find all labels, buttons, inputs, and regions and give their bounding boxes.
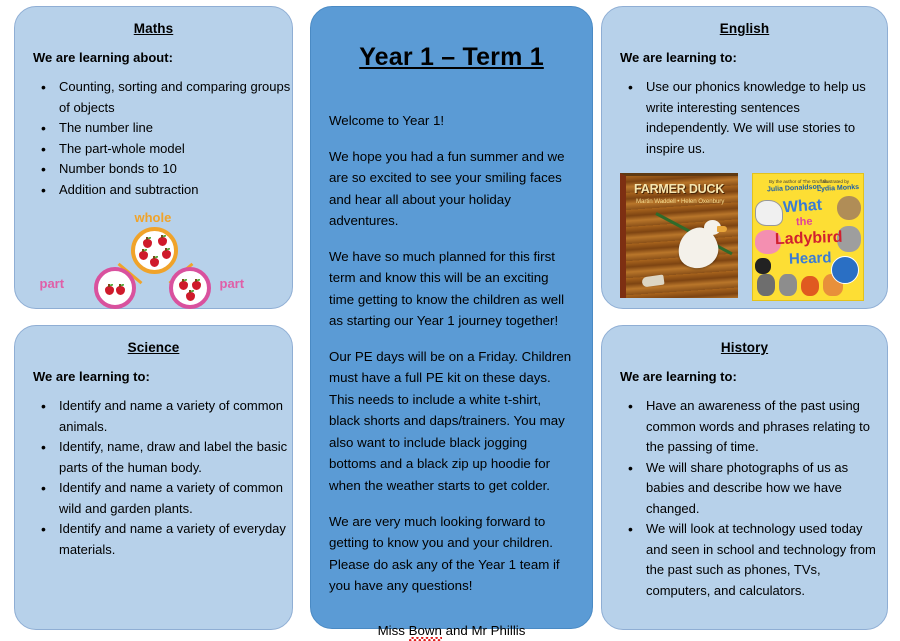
cat-illustration bbox=[757, 274, 775, 296]
cat-illustration bbox=[779, 274, 797, 296]
letter-paragraph: We hope you had a fun summer and we are … bbox=[329, 146, 574, 232]
letter-paragraph: Our PE days will be on a Friday. Childre… bbox=[329, 346, 574, 497]
panel-science: Science We are learning to: Identify and… bbox=[14, 325, 293, 630]
book-title-word-1: What bbox=[782, 197, 822, 218]
whole-label: whole bbox=[135, 210, 172, 225]
duck-beak-illustration bbox=[717, 226, 727, 232]
panel-main-letter: Year 1 – Term 1 Welcome to Year 1! We ho… bbox=[310, 6, 593, 629]
signature-suffix: and Mr Phillis bbox=[442, 623, 526, 638]
panel-history: History We are learning to: Have an awar… bbox=[601, 325, 888, 630]
history-bullet-list: Have an awareness of the past using comm… bbox=[602, 396, 887, 601]
science-lead: We are learning to: bbox=[33, 369, 292, 384]
english-title: English bbox=[602, 21, 887, 36]
list-item: Addition and subtraction bbox=[59, 180, 292, 201]
book-authors-farmer-duck: Martin Waddell • Helen Oxenbury bbox=[636, 198, 724, 205]
book-author-right: Lydia Monks bbox=[817, 184, 859, 193]
signature-surname-misspelled: Bown bbox=[409, 623, 442, 638]
maths-lead: We are learning about: bbox=[33, 50, 292, 65]
letter-body: Welcome to Year 1! We hope you had a fun… bbox=[329, 72, 574, 638]
list-item: The part-whole model bbox=[59, 139, 292, 160]
list-item: The number line bbox=[59, 118, 292, 139]
apple-icon bbox=[192, 281, 201, 290]
apple-icon bbox=[186, 292, 195, 301]
english-bullet-list: Use our phonics knowledge to help us wri… bbox=[602, 77, 887, 159]
boot-illustration bbox=[641, 275, 664, 288]
apple-icon bbox=[116, 286, 125, 295]
book-cover-gallery: FARMER DUCK Martin Waddell • Helen Oxenb… bbox=[620, 173, 872, 301]
history-lead: We are learning to: bbox=[620, 369, 887, 384]
apple-icon bbox=[143, 239, 152, 248]
sheep-illustration bbox=[755, 258, 771, 274]
part-right-label: part bbox=[220, 276, 245, 291]
part-whole-model-diagram: whole part part bbox=[34, 210, 274, 310]
letter-paragraph: We have so much planned for this first t… bbox=[329, 246, 574, 332]
book-title-word-4: Heard bbox=[789, 249, 832, 267]
panel-english: English We are learning to: Use our phon… bbox=[601, 6, 888, 309]
letter-paragraph: Welcome to Year 1! bbox=[329, 110, 574, 132]
horse-illustration bbox=[755, 200, 783, 226]
list-item: Identify and name a variety of common an… bbox=[59, 396, 292, 437]
list-item: Have an awareness of the past using comm… bbox=[646, 396, 887, 458]
history-title: History bbox=[602, 340, 887, 355]
book-title-farmer-duck: FARMER DUCK bbox=[634, 182, 724, 196]
science-bullet-list: Identify and name a variety of common an… bbox=[15, 396, 292, 560]
apple-icon bbox=[150, 258, 159, 267]
list-item: Identify and name a variety of common wi… bbox=[59, 478, 292, 519]
science-title: Science bbox=[15, 340, 292, 355]
whole-circle bbox=[131, 227, 178, 274]
apple-icon bbox=[158, 237, 167, 246]
hen-illustration bbox=[801, 276, 819, 296]
list-item: Identify and name a variety of everyday … bbox=[59, 519, 292, 560]
apple-icon bbox=[162, 250, 171, 259]
panel-maths: Maths We are learning about: Counting, s… bbox=[14, 6, 293, 309]
book-cover-what-the-ladybird-heard: By the author of The Gruffalo Illustrate… bbox=[752, 173, 864, 301]
part-left-label: part bbox=[40, 276, 65, 291]
part-circle-right bbox=[169, 267, 211, 309]
book-credit-right: Illustrated by bbox=[823, 179, 849, 184]
list-item: Identify, name, draw and label the basic… bbox=[59, 437, 292, 478]
letter-paragraph: We are very much looking forward to gett… bbox=[329, 511, 574, 597]
page-title: Year 1 – Term 1 bbox=[311, 43, 592, 72]
list-item: We will share photographs of us as babie… bbox=[646, 458, 887, 520]
list-item: Use our phonics knowledge to help us wri… bbox=[646, 77, 887, 159]
part-circle-left bbox=[94, 267, 136, 309]
english-lead: We are learning to: bbox=[620, 50, 887, 65]
dog-illustration bbox=[837, 196, 861, 220]
apple-icon bbox=[139, 251, 148, 260]
list-item: We will look at technology used today an… bbox=[646, 519, 887, 601]
newsletter-page: Maths We are learning about: Counting, s… bbox=[0, 0, 900, 638]
book-title-word-2: the bbox=[796, 216, 813, 229]
apple-icon bbox=[105, 286, 114, 295]
book-author-left: Julia Donaldson bbox=[767, 184, 821, 194]
signature: Miss Bown and Mr Phillis bbox=[329, 623, 574, 638]
maths-bullet-list: Counting, sorting and comparing groups o… bbox=[15, 77, 292, 200]
award-badge-icon bbox=[831, 256, 859, 284]
signature-prefix: Miss bbox=[378, 623, 409, 638]
maths-title: Maths bbox=[15, 21, 292, 36]
list-item: Number bonds to 10 bbox=[59, 159, 292, 180]
apple-icon bbox=[179, 281, 188, 290]
book-title-word-3: Ladybird bbox=[775, 229, 843, 249]
list-item: Counting, sorting and comparing groups o… bbox=[59, 77, 292, 118]
book-cover-farmer-duck: FARMER DUCK Martin Waddell • Helen Oxenb… bbox=[620, 173, 738, 298]
